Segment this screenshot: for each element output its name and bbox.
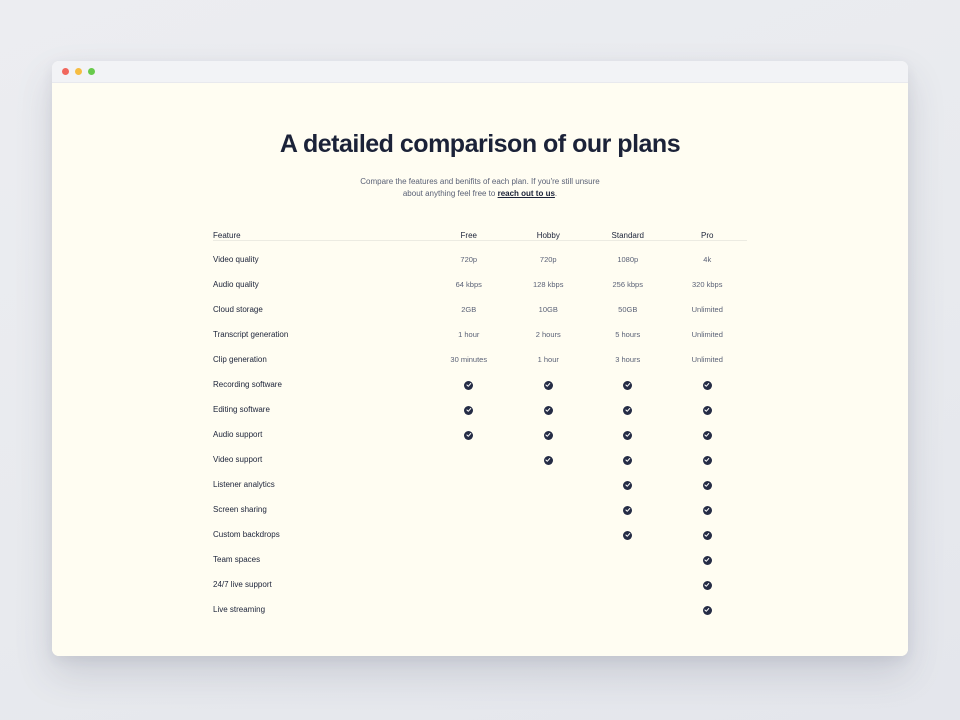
table-row: Custom backdrops xyxy=(213,522,747,547)
cell-check-free xyxy=(429,397,509,422)
cell-value-pro: Unlimited xyxy=(668,297,748,322)
cell-check-standard xyxy=(588,422,668,447)
cell-value-pro: 4k xyxy=(668,241,748,273)
cell-check-hobby xyxy=(509,447,589,472)
check-glyph xyxy=(625,432,631,438)
cell-value-free xyxy=(429,447,509,472)
feature-label: Custom backdrops xyxy=(213,522,429,547)
check-glyph xyxy=(704,457,710,463)
cell-value-free xyxy=(429,497,509,522)
cell-value-free: 30 minutes xyxy=(429,347,509,372)
cell-value-hobby xyxy=(509,472,589,497)
feature-label: Live streaming xyxy=(213,597,429,622)
cell-value-free: 2GB xyxy=(429,297,509,322)
cell-check-pro xyxy=(668,522,748,547)
reach-out-link[interactable]: reach out to us xyxy=(498,189,555,198)
window-content: A detailed comparison of our plans Compa… xyxy=(52,83,908,656)
check-icon xyxy=(544,456,553,465)
table-row: 24/7 live support xyxy=(213,572,747,597)
cell-check-standard xyxy=(588,522,668,547)
page-background: A detailed comparison of our plans Compa… xyxy=(0,0,960,720)
cell-check-pro xyxy=(668,447,748,472)
check-icon xyxy=(544,406,553,415)
check-icon xyxy=(464,406,473,415)
check-glyph xyxy=(704,382,710,388)
check-glyph xyxy=(704,557,710,563)
cell-check-hobby xyxy=(509,422,589,447)
check-glyph xyxy=(704,407,710,413)
cell-value-hobby xyxy=(509,547,589,572)
feature-label: Team spaces xyxy=(213,547,429,572)
check-glyph xyxy=(704,482,710,488)
cell-value-standard: 1080p xyxy=(588,241,668,273)
check-glyph xyxy=(466,432,472,438)
close-window-icon[interactable] xyxy=(62,68,69,75)
check-icon xyxy=(623,406,632,415)
feature-label: Listener analytics xyxy=(213,472,429,497)
check-glyph xyxy=(545,457,551,463)
check-icon xyxy=(703,506,712,515)
cell-check-pro xyxy=(668,422,748,447)
page-subtitle: Compare the features and benifits of eac… xyxy=(330,176,630,202)
page-title: A detailed comparison of our plans xyxy=(52,131,908,159)
check-icon xyxy=(703,556,712,565)
feature-label: Screen sharing xyxy=(213,497,429,522)
cell-value-free xyxy=(429,547,509,572)
table-row: Editing software xyxy=(213,397,747,422)
cell-value-free xyxy=(429,522,509,547)
cell-value-free: 1 hour xyxy=(429,322,509,347)
check-glyph xyxy=(625,507,631,513)
check-icon xyxy=(623,481,632,490)
table-header-row: Feature Free Hobby Standard Pro xyxy=(213,231,747,241)
check-glyph xyxy=(704,607,710,613)
feature-label: Editing software xyxy=(213,397,429,422)
subtitle-line-2-suffix: . xyxy=(555,189,557,198)
plan-comparison-table: Feature Free Hobby Standard Pro Video qu… xyxy=(213,231,747,622)
cell-check-pro xyxy=(668,497,748,522)
check-icon xyxy=(464,431,473,440)
feature-label: Clip generation xyxy=(213,347,429,372)
check-glyph xyxy=(466,382,472,388)
cell-value-hobby xyxy=(509,522,589,547)
check-glyph xyxy=(625,457,631,463)
cell-value-pro: Unlimited xyxy=(668,322,748,347)
column-header-standard: Standard xyxy=(588,231,668,241)
comparison-table-wrapper: Feature Free Hobby Standard Pro Video qu… xyxy=(213,231,747,622)
check-icon xyxy=(703,406,712,415)
feature-label: Audio quality xyxy=(213,272,429,297)
check-icon xyxy=(623,531,632,540)
cell-value-standard: 256 kbps xyxy=(588,272,668,297)
cell-value-pro: 320 kbps xyxy=(668,272,748,297)
cell-value-hobby xyxy=(509,572,589,597)
feature-label: Recording software xyxy=(213,372,429,397)
check-icon xyxy=(623,431,632,440)
cell-value-standard: 5 hours xyxy=(588,322,668,347)
cell-value-standard: 50GB xyxy=(588,297,668,322)
check-glyph xyxy=(625,382,631,388)
cell-value-hobby: 10GB xyxy=(509,297,589,322)
table-row: Transcript generation1 hour2 hours5 hour… xyxy=(213,322,747,347)
cell-check-standard xyxy=(588,472,668,497)
table-body: Video quality720p720p1080p4kAudio qualit… xyxy=(213,241,747,623)
cell-check-pro xyxy=(668,597,748,622)
cell-value-free xyxy=(429,572,509,597)
table-row: Recording software xyxy=(213,372,747,397)
check-icon xyxy=(703,381,712,390)
maximize-window-icon[interactable] xyxy=(88,68,95,75)
table-row: Cloud storage2GB10GB50GBUnlimited xyxy=(213,297,747,322)
cell-value-free xyxy=(429,472,509,497)
cell-value-pro: Unlimited xyxy=(668,347,748,372)
cell-check-pro xyxy=(668,572,748,597)
check-icon xyxy=(703,531,712,540)
cell-value-hobby: 720p xyxy=(509,241,589,273)
cell-value-standard xyxy=(588,572,668,597)
table-row: Team spaces xyxy=(213,547,747,572)
column-header-feature: Feature xyxy=(213,231,429,241)
table-row: Audio support xyxy=(213,422,747,447)
window-titlebar xyxy=(52,61,908,83)
check-icon xyxy=(623,506,632,515)
column-header-pro: Pro xyxy=(668,231,748,241)
subtitle-line-1: Compare the features and benifits of eac… xyxy=(360,177,599,186)
cell-check-standard xyxy=(588,397,668,422)
cell-value-hobby xyxy=(509,597,589,622)
feature-label: Video quality xyxy=(213,241,429,273)
table-row: Clip generation30 minutes1 hour3 hoursUn… xyxy=(213,347,747,372)
check-icon xyxy=(623,456,632,465)
subtitle-line-2-prefix: about anything feel free to xyxy=(403,189,498,198)
check-glyph xyxy=(625,532,631,538)
cell-check-standard xyxy=(588,497,668,522)
traffic-light-dots xyxy=(62,68,95,75)
cell-check-standard xyxy=(588,372,668,397)
cell-value-hobby: 1 hour xyxy=(509,347,589,372)
cell-check-pro xyxy=(668,372,748,397)
cell-value-hobby xyxy=(509,497,589,522)
check-glyph xyxy=(625,407,631,413)
check-icon xyxy=(464,381,473,390)
table-row: Video quality720p720p1080p4k xyxy=(213,241,747,273)
check-icon xyxy=(703,581,712,590)
check-glyph xyxy=(704,432,710,438)
cell-value-hobby: 128 kbps xyxy=(509,272,589,297)
check-glyph xyxy=(545,432,551,438)
table-header: Feature Free Hobby Standard Pro xyxy=(213,231,747,241)
cell-check-pro xyxy=(668,472,748,497)
cell-check-pro xyxy=(668,397,748,422)
feature-label: 24/7 live support xyxy=(213,572,429,597)
cell-value-free xyxy=(429,597,509,622)
table-row: Listener analytics xyxy=(213,472,747,497)
check-icon xyxy=(703,431,712,440)
check-glyph xyxy=(704,582,710,588)
check-glyph xyxy=(466,407,472,413)
cell-check-hobby xyxy=(509,397,589,422)
table-row: Live streaming xyxy=(213,597,747,622)
cell-value-hobby: 2 hours xyxy=(509,322,589,347)
check-icon xyxy=(623,381,632,390)
cell-value-free: 64 kbps xyxy=(429,272,509,297)
check-icon xyxy=(544,431,553,440)
minimize-window-icon[interactable] xyxy=(75,68,82,75)
cell-check-hobby xyxy=(509,372,589,397)
cell-check-free xyxy=(429,422,509,447)
check-glyph xyxy=(545,407,551,413)
check-icon xyxy=(703,606,712,615)
check-glyph xyxy=(704,532,710,538)
cell-check-standard xyxy=(588,447,668,472)
check-icon xyxy=(703,481,712,490)
cell-value-free: 720p xyxy=(429,241,509,273)
check-icon xyxy=(544,381,553,390)
cell-value-standard xyxy=(588,597,668,622)
cell-check-free xyxy=(429,372,509,397)
hero-section: A detailed comparison of our plans Compa… xyxy=(52,83,908,201)
feature-label: Transcript generation xyxy=(213,322,429,347)
table-row: Audio quality64 kbps128 kbps256 kbps320 … xyxy=(213,272,747,297)
check-icon xyxy=(703,456,712,465)
column-header-hobby: Hobby xyxy=(509,231,589,241)
column-header-free: Free xyxy=(429,231,509,241)
check-glyph xyxy=(545,382,551,388)
feature-label: Video support xyxy=(213,447,429,472)
table-row: Screen sharing xyxy=(213,497,747,522)
feature-label: Cloud storage xyxy=(213,297,429,322)
table-row: Video support xyxy=(213,447,747,472)
cell-value-standard xyxy=(588,547,668,572)
feature-label: Audio support xyxy=(213,422,429,447)
cell-value-standard: 3 hours xyxy=(588,347,668,372)
browser-window: A detailed comparison of our plans Compa… xyxy=(52,61,908,656)
check-glyph xyxy=(625,482,631,488)
cell-check-pro xyxy=(668,547,748,572)
check-glyph xyxy=(704,507,710,513)
